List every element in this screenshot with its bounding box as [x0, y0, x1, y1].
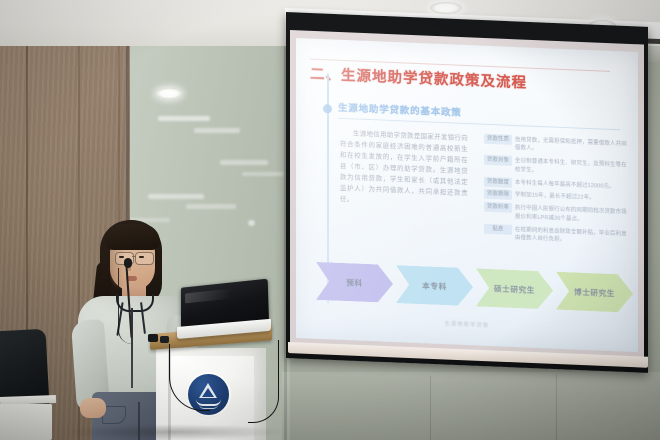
table-row-key: 贷款期限 — [484, 189, 512, 200]
lower-wall — [282, 372, 660, 440]
table-row-key: 贷款额度 — [484, 176, 512, 187]
stage-chevron-label: 博士研究生 — [574, 286, 615, 299]
stage-chevron-label: 预科 — [346, 277, 362, 289]
stage-chevron-label: 硕士研究生 — [494, 283, 535, 296]
glasses-bridge — [132, 256, 136, 257]
table-row-key: 贷款对象 — [484, 155, 512, 166]
body-text-content: 生源地信用助学贷款是国家开发银行向符合条件的家庭经济困难的普通高校新生和在校生发… — [340, 130, 468, 204]
stage-chevron-boshi: 博士研究生 — [556, 272, 633, 313]
table-row-key: 贷款利率 — [484, 202, 512, 213]
podium-device — [148, 334, 158, 342]
table-row-value: 执行中国人民银行公布的同期同档次贷款市场报价利率LPR减30个基点。 — [512, 203, 628, 227]
table-row-key: 贷款性质 — [484, 134, 512, 145]
slide-canvas: 二、生源地助学贷款政策及流程 生源地助学贷款的基本政策 生源地信用助学贷款是国家… — [296, 38, 638, 352]
stage-chevron-benzhuanke: 本专科 — [396, 265, 473, 306]
cable — [118, 268, 133, 344]
table-row: 贷款利率 执行中国人民银行公布的同期同档次贷款市场报价利率LPR减30个基点。 — [484, 202, 628, 227]
cable — [248, 340, 279, 423]
stage-chevron-shuoshi: 硕士研究生 — [476, 268, 553, 309]
hair-fringe — [105, 224, 160, 250]
glasses-icon — [135, 252, 154, 265]
table-row: 贴息 在校期间的利息由财政全额补贴，毕业后利息由借款人自行负担。 — [484, 223, 628, 248]
subtitle-divider — [338, 118, 620, 131]
podium-device — [160, 336, 169, 343]
table-row-value: 全日制普通本专科生、研究生，及预科生等在校学生。 — [512, 156, 628, 180]
left-hand — [80, 398, 106, 418]
policy-info-table: 贷款性质 信用贷款，无需担保和抵押，需要借款人共同借款人。 贷款对象 全日制普通… — [484, 134, 628, 251]
floor-shadow — [58, 424, 288, 440]
table-row-value: 在校期间的利息由财政全额补贴，毕业后利息由借款人自行负担。 — [512, 224, 628, 248]
screenshot-root: 二、生源地助学贷款政策及流程 生源地助学贷款的基本政策 生源地信用助学贷款是国家… — [0, 0, 660, 440]
laptop[interactable] — [181, 287, 273, 339]
bullet-dot-icon — [323, 104, 332, 113]
table-row-value: 信用贷款，无需担保和抵押，需要借款人共同借款人。 — [512, 135, 628, 159]
presentation-slide: 二、生源地助学贷款政策及流程 生源地助学贷款的基本政策 生源地信用助学贷款是国家… — [296, 38, 638, 352]
stage-chevron-row: 预科 本专科 硕士研究生 博士研究生 — [316, 261, 636, 314]
slide-footer: 生源地助学贷款 — [296, 314, 638, 335]
table-row-key: 贴息 — [484, 223, 512, 234]
eye — [139, 256, 144, 258]
slide-title: 二、生源地助学贷款政策及流程 — [310, 63, 610, 96]
eye — [119, 256, 124, 258]
slide-body-paragraph: 生源地信用助学贷款是国家开发银行向符合条件的家庭经济困难的普通高校新生和在校生发… — [340, 128, 468, 210]
table-row: 贷款对象 全日制普通本专科生、研究生，及预科生等在校学生。 — [484, 155, 628, 180]
projection-screen: 二、生源地助学贷款政策及流程 生源地助学贷款的基本政策 生源地信用助学贷款是国家… — [286, 12, 648, 358]
slide-subtitle: 生源地助学贷款的基本政策 — [338, 100, 462, 119]
table-row: 贷款性质 信用贷款，无需担保和抵押，需要借款人共同借款人。 — [484, 134, 628, 159]
stage-chevron-yuke: 预科 — [316, 262, 393, 303]
stage-chevron-label: 本专科 — [422, 280, 447, 292]
side-desk — [0, 404, 52, 440]
